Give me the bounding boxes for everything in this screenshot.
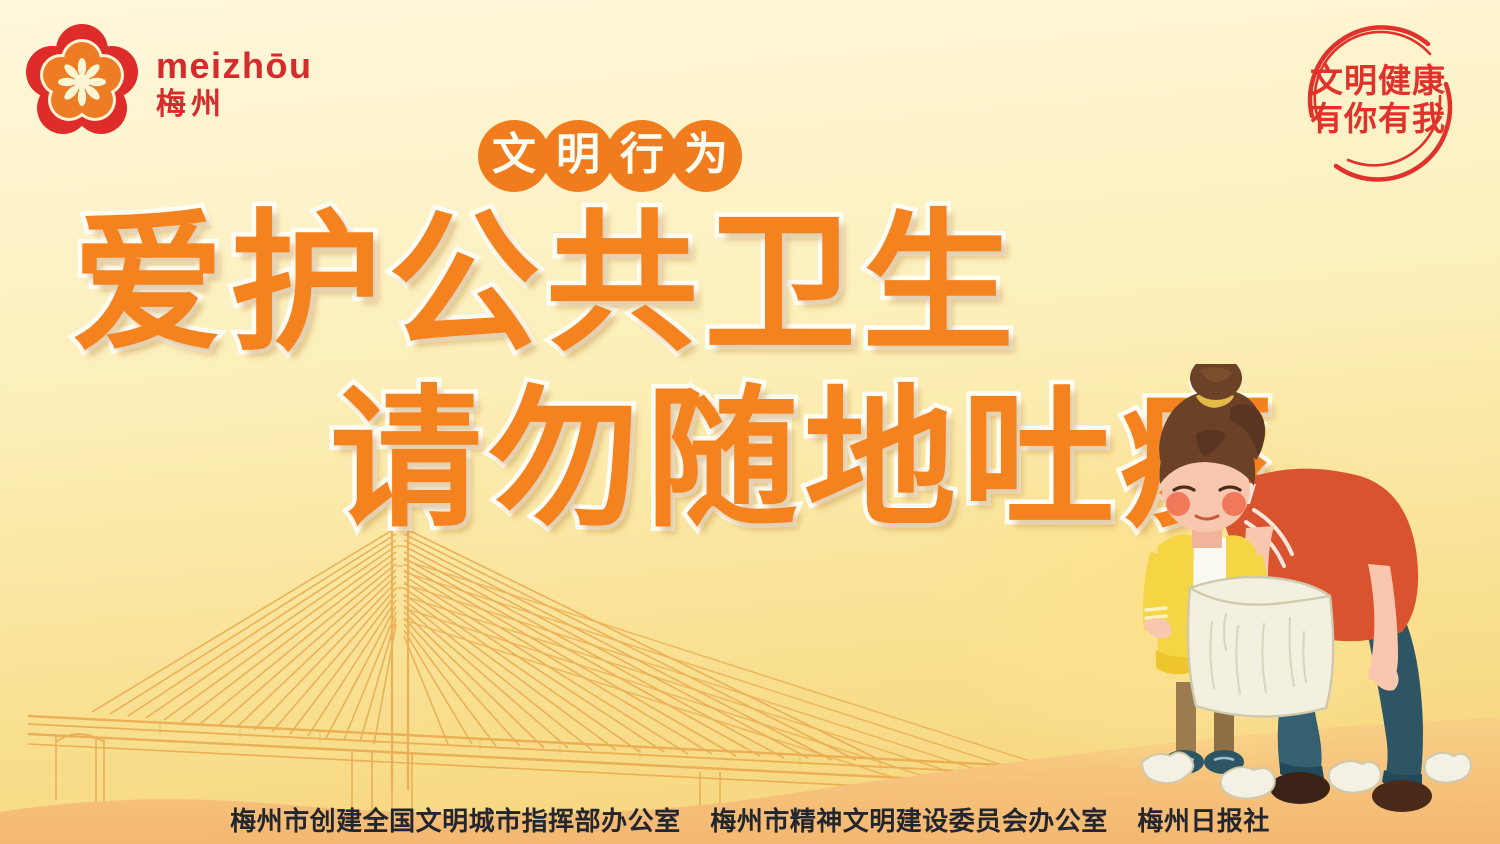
headline-line-1: 爱护公共卫生 bbox=[0, 208, 1500, 360]
footer-org-1: 梅州市创建全国文明城市指挥部办公室 bbox=[230, 807, 681, 837]
footer-org-2: 梅州市精神文明建设委员会办公室 bbox=[710, 807, 1108, 837]
eyebrow-char-4-label: 为 bbox=[684, 133, 728, 177]
eyebrow-char-3: 行 bbox=[606, 120, 678, 192]
civilization-health-seal[interactable]: 文明健康 有你有我 bbox=[1278, 10, 1478, 190]
seal-line-1: 文明健康 bbox=[1310, 64, 1446, 98]
plum-blossom-icon bbox=[22, 22, 142, 142]
eyebrow-char-1: 文 bbox=[478, 120, 550, 192]
logo-chinese-name: 梅州 bbox=[156, 90, 313, 120]
eyebrow-char-3-label: 行 bbox=[620, 133, 664, 177]
logo-pinyin: meizhōu bbox=[156, 48, 313, 84]
eyebrow-char-1-label: 文 bbox=[492, 133, 536, 177]
footer-org-3: 梅州日报社 bbox=[1137, 807, 1270, 837]
seal-text: 文明健康 有你有我 bbox=[1278, 10, 1478, 190]
eyebrow-badge: 文 明 行 为 bbox=[478, 120, 734, 192]
eyebrow-char-2: 明 bbox=[542, 120, 614, 192]
footer-organizations: 梅州市创建全国文明城市指挥部办公室 梅州市精神文明建设委员会办公室 梅州日报社 bbox=[0, 801, 1500, 838]
meizhou-logo[interactable]: meizhōu 梅州 bbox=[22, 22, 313, 142]
poster-root: meizhōu 梅州 文明健康 有你有我 文 明 行 为 爱护公共卫生 请勿随地… bbox=[0, 0, 1500, 844]
eyebrow-char-4: 为 bbox=[670, 120, 742, 192]
seal-line-2: 有你有我 bbox=[1310, 102, 1446, 136]
logo-wordmark: meizhōu 梅州 bbox=[156, 44, 313, 120]
eyebrow-char-2-label: 明 bbox=[556, 133, 600, 177]
trash-bag bbox=[1188, 577, 1333, 716]
mother-and-child-illustration bbox=[1134, 364, 1494, 816]
